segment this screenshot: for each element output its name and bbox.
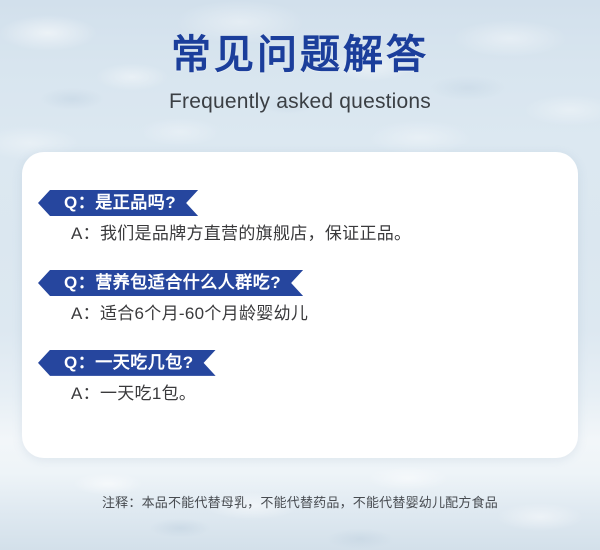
answer-text: A：我们是品牌方直营的旗舰店，保证正品。 (38, 223, 578, 246)
answer-text: A：适合6个月-60个月龄婴幼儿 (38, 303, 578, 326)
faq-page: 常见问题解答 Frequently asked questions Q：是正品吗… (0, 0, 600, 550)
question-badge[interactable]: Q：一天吃几包? (38, 350, 216, 376)
question-badge[interactable]: Q：营养包适合什么人群吃? (38, 270, 303, 296)
answer-text: A：一天吃1包。 (38, 383, 578, 406)
faq-item: Q：营养包适合什么人群吃? A：适合6个月-60个月龄婴幼儿 (38, 270, 578, 326)
faq-card: Q：是正品吗? A：我们是品牌方直营的旗舰店，保证正品。 Q：营养包适合什么人群… (22, 152, 578, 458)
question-badge[interactable]: Q：是正品吗? (38, 190, 198, 216)
page-header: 常见问题解答 Frequently asked questions (0, 0, 600, 114)
footer-note: 注释：本品不能代替母乳，不能代替药品，不能代替婴幼儿配方食品 (0, 492, 600, 511)
faq-item: Q：一天吃几包? A：一天吃1包。 (38, 350, 578, 406)
page-subtitle: Frequently asked questions (0, 78, 600, 114)
page-title: 常见问题解答 (0, 0, 600, 78)
faq-list: Q：是正品吗? A：我们是品牌方直营的旗舰店，保证正品。 Q：营养包适合什么人群… (22, 152, 578, 406)
faq-item: Q：是正品吗? A：我们是品牌方直营的旗舰店，保证正品。 (38, 190, 578, 246)
